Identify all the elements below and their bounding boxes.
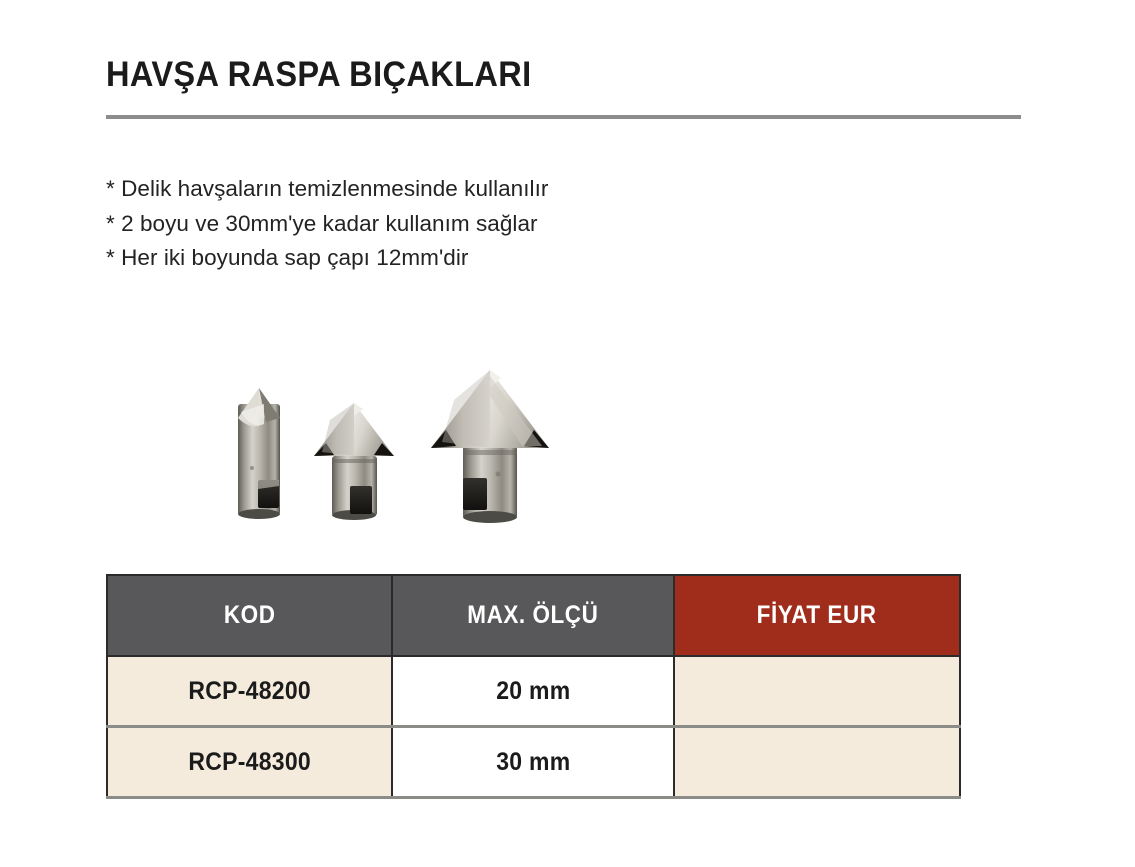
title-divider: [106, 115, 1021, 119]
cell-olcu-text: 30 mm: [496, 748, 570, 777]
column-header-fiyat: FİYAT EUR: [674, 575, 960, 656]
cell-kod-text: RCP-48300: [188, 748, 311, 777]
medium-countersink-tool: [314, 403, 394, 520]
page-title: HAVŞA RASPA BIÇAKLARI: [106, 55, 962, 95]
feature-list-item: * Her iki boyunda sap çapı 12mm'dir: [106, 241, 966, 276]
countersink-tools-illustration: [222, 356, 592, 561]
column-header-kod: KOD: [107, 575, 392, 656]
feature-list-item: * Delik havşaların temizlenmesinde kulla…: [106, 172, 966, 207]
price-table: KOD MAX. ÖLÇÜ FİYAT EUR RCP-48200 20 mm: [106, 574, 961, 799]
product-page: HAVŞA RASPA BIÇAKLARI * Delik havşaların…: [0, 0, 1135, 867]
large-countersink-tool: [431, 370, 549, 523]
cell-kod: RCP-48300: [107, 727, 392, 798]
cell-olcu: 20 mm: [392, 656, 674, 727]
table-header-row: KOD MAX. ÖLÇÜ FİYAT EUR: [107, 575, 960, 656]
column-header-fiyat-label: FİYAT EUR: [757, 601, 877, 630]
cell-olcu-text: 20 mm: [496, 677, 570, 706]
column-header-olcu: MAX. ÖLÇÜ: [392, 575, 674, 656]
cell-fiyat: [674, 727, 960, 798]
table-row: RCP-48200 20 mm: [107, 656, 960, 727]
column-header-olcu-label: MAX. ÖLÇÜ: [467, 601, 598, 630]
table-row: RCP-48300 30 mm: [107, 727, 960, 798]
small-countersink-tool: [238, 388, 280, 519]
product-image: [222, 356, 592, 561]
cell-kod: RCP-48200: [107, 656, 392, 727]
cell-kod-text: RCP-48200: [188, 677, 311, 706]
cell-olcu: 30 mm: [392, 727, 674, 798]
cell-fiyat: [674, 656, 960, 727]
feature-list: * Delik havşaların temizlenmesinde kulla…: [106, 172, 966, 276]
title-block: HAVŞA RASPA BIÇAKLARI: [106, 55, 1026, 95]
feature-list-item: * 2 boyu ve 30mm'ye kadar kullanım sağla…: [106, 207, 966, 242]
column-header-kod-label: KOD: [224, 601, 276, 630]
